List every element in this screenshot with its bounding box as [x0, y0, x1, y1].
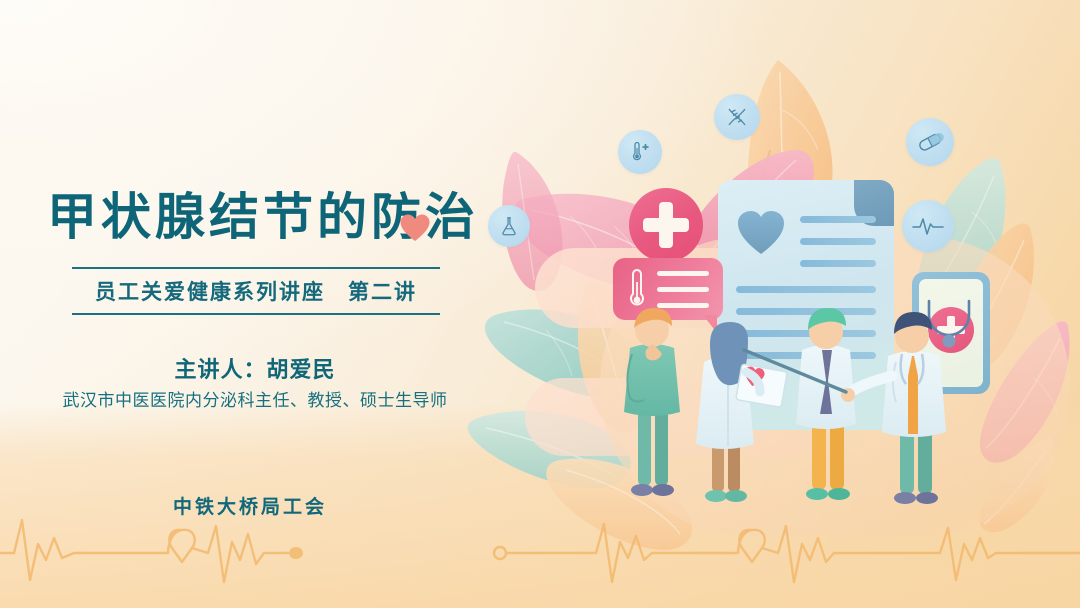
dna-icon	[714, 94, 760, 140]
card-line	[800, 260, 876, 267]
heartbeat-icon	[902, 200, 954, 252]
person-doctor-center	[796, 308, 856, 500]
card-heart-icon	[736, 210, 786, 256]
person-doctor-female	[696, 322, 787, 502]
pink-cross-badge	[629, 188, 703, 262]
title-heart-icon	[400, 214, 430, 242]
card-line	[800, 238, 876, 245]
thermometer-plus-icon	[618, 130, 662, 174]
bubble-line	[657, 287, 709, 292]
divider-top	[72, 267, 440, 269]
speaker-name: 主讲人：胡爱民	[0, 352, 510, 384]
subtitle: 员工关爱健康系列讲座 第二讲	[72, 276, 440, 306]
card-line	[800, 216, 876, 223]
person-patient	[624, 308, 680, 496]
speaker-credentials: 武汉市中医医院内分泌科主任、教授、硕士生导师	[0, 386, 510, 411]
bubble-line	[657, 271, 709, 276]
poster-canvas: 甲状腺结节的防治 员工关爱健康系列讲座 第二讲 主讲人：胡爱民 武汉市中医医院内…	[0, 0, 1080, 608]
text-content-block: 甲状腺结节的防治 员工关爱健康系列讲座 第二讲 主讲人：胡爱民 武汉市中医医院内…	[0, 0, 520, 608]
card-line	[736, 286, 876, 293]
pill-icon	[906, 118, 954, 166]
organization-name: 中铁大桥局工会	[0, 492, 500, 519]
divider-bottom	[72, 313, 440, 315]
